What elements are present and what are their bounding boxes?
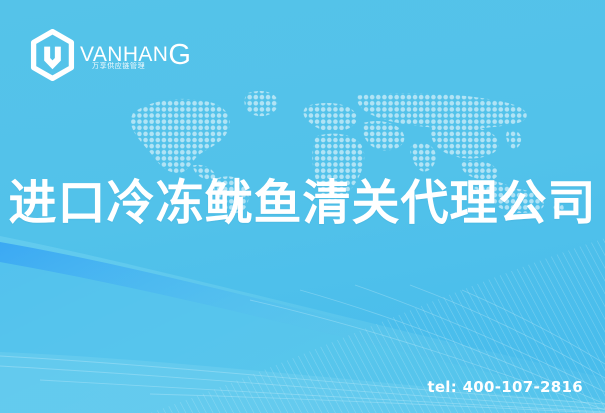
hexagon-v-mark-icon xyxy=(29,29,76,81)
company-logo[interactable]: VANHANG 万享供应链管理 xyxy=(29,27,180,83)
logo-subtitle: 万享供应链管理 xyxy=(92,61,145,71)
logo-wordmark-tail: G xyxy=(168,39,191,71)
promo-banner: VANHANG 万享供应链管理 进口冷冻鱿鱼清关代理公司 tel: 400-10… xyxy=(0,0,605,413)
contact-phone[interactable]: tel: 400-107-2816 xyxy=(427,378,583,396)
logo-text-block: VANHANG 万享供应链管理 xyxy=(80,35,180,75)
page-title: 进口冷冻鱿鱼清关代理公司 xyxy=(0,175,605,231)
